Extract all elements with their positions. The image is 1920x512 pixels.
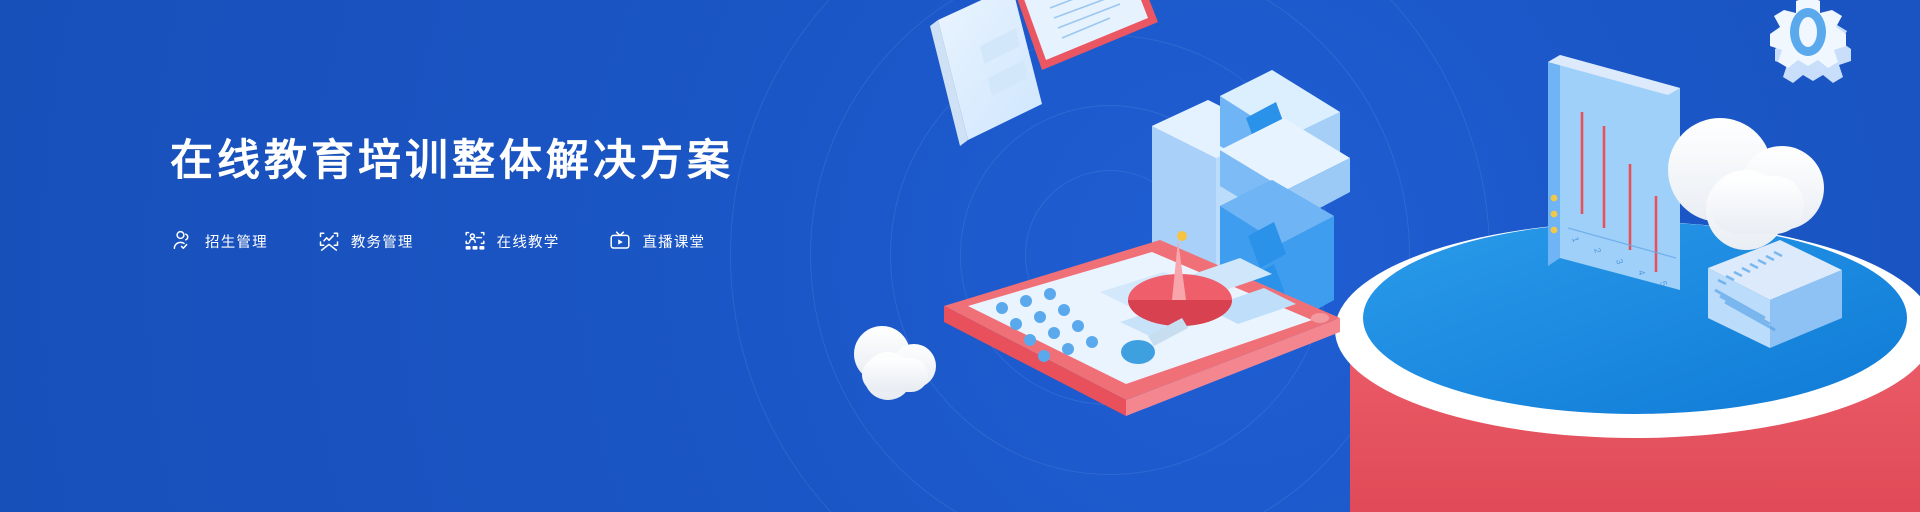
user-group-icon — [170, 228, 196, 254]
hero-content: 在线教育培训整体解决方案 招生管理 — [170, 138, 753, 254]
page-title: 在线教育培训整体解决方案 — [170, 138, 753, 185]
isometric-illustration: 1 2 3 4 5 — [920, 0, 1920, 512]
feature-label: 招生管理 — [205, 231, 268, 252]
open-book — [930, 0, 1158, 146]
education-hero-banner: 1 2 3 4 5 — [0, 0, 1920, 512]
feature-list: 招生管理 教务管理 — [170, 228, 753, 254]
feature-label: 教务管理 — [351, 231, 414, 252]
gear-icon — [1770, 0, 1851, 83]
cloud-small-left — [842, 318, 952, 408]
feature-item-live-classroom[interactable]: 直播课堂 — [607, 228, 705, 254]
feature-item-enrollment[interactable]: 招生管理 — [170, 228, 268, 254]
presentation-icon — [462, 228, 488, 254]
tv-play-icon — [607, 228, 633, 254]
feature-label: 在线教学 — [497, 231, 560, 252]
feature-item-academic-affairs[interactable]: 教务管理 — [316, 228, 414, 254]
chart-board-icon — [316, 228, 342, 254]
feature-item-online-teaching[interactable]: 在线教学 — [462, 228, 560, 254]
feature-label: 直播课堂 — [642, 231, 705, 252]
chart-monitor: 1 2 3 4 5 — [1548, 55, 1680, 290]
